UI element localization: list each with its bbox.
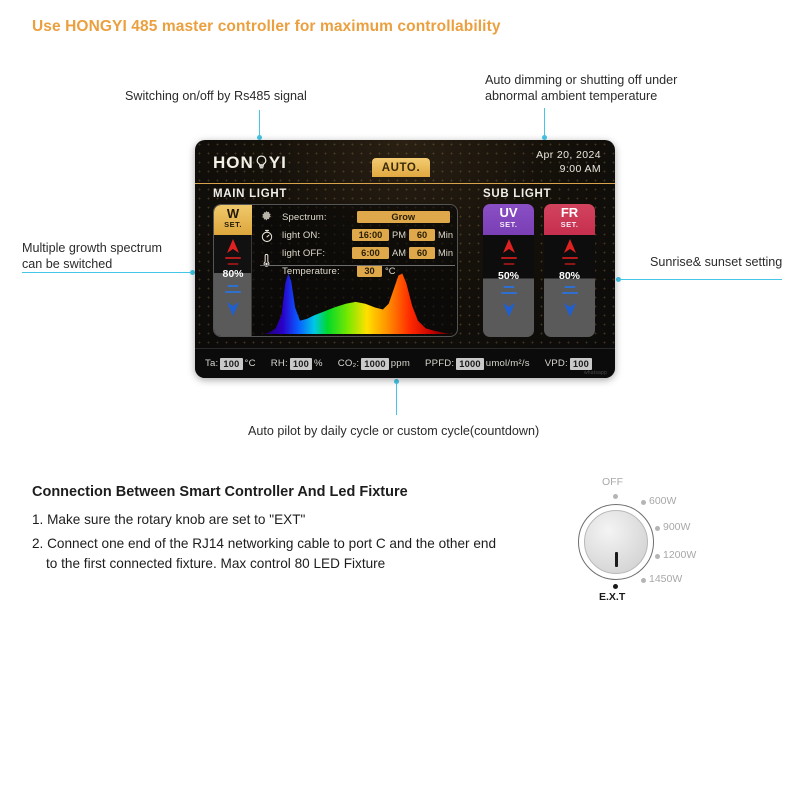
clock-display: Apr 20, 2024 9:00 AM — [536, 148, 601, 176]
knob-label-off: OFF — [602, 476, 623, 488]
light-off-ramp[interactable]: 60 — [409, 247, 435, 259]
knob-label-1200w: 1200W — [663, 549, 696, 561]
fr-channel-sub: SET. — [544, 220, 595, 229]
spectrum-value[interactable]: Grow — [357, 211, 450, 223]
uv-channel-slider[interactable]: UV SET. 50% — [483, 204, 534, 337]
light-on-ramp-unit: Min — [438, 230, 453, 240]
connection-step-2-line1: 2. Connect one end of the RJ14 networkin… — [32, 534, 572, 554]
gear-icon — [260, 210, 273, 228]
status-co2-label: CO₂: — [338, 358, 360, 369]
spectrum-chart — [260, 265, 455, 334]
fr-channel-percent: 80% — [544, 270, 595, 282]
connection-step-2-line2: to the first connected fixture. Max cont… — [32, 554, 572, 574]
connector-autopilot — [396, 381, 397, 415]
uv-decrease-arrow-icon[interactable] — [501, 302, 517, 323]
main-light-panel: W SET. 80% — [213, 204, 458, 337]
callout-temperature: Auto dimming or shutting off under abnor… — [485, 72, 677, 104]
connector-rs485 — [259, 110, 260, 138]
row-light-off[interactable]: light OFF: 6:00 AM 60 Min — [282, 245, 453, 261]
device-header: HON YI AUTO. Apr 20, 2024 9:00 AM — [195, 140, 615, 184]
rotary-knob-pointer — [615, 552, 618, 567]
increase-arrow-icon[interactable] — [225, 238, 241, 259]
fr-tick-red-1 — [562, 257, 578, 259]
uv-tick-red-2 — [503, 263, 514, 265]
light-off-meridiem: AM — [392, 248, 406, 258]
knob-dot-1200w — [655, 554, 660, 559]
connection-step-2: 2. Connect one end of the RJ14 networkin… — [32, 534, 572, 574]
status-rh-unit: % — [314, 358, 323, 369]
callout-sunrise-text: Sunrise& sunset setting — [650, 255, 782, 269]
white-channel-cap[interactable]: W SET. — [214, 205, 252, 235]
white-channel-sub: SET. — [214, 220, 252, 229]
row-light-on[interactable]: light ON: 16:00 PM 60 Min — [282, 227, 453, 243]
connector-dot-sunrise — [616, 277, 621, 282]
uv-channel-sub: SET. — [483, 220, 534, 229]
connector-dot-autopilot — [394, 379, 399, 384]
fr-channel-name: FR — [544, 206, 595, 220]
connection-step-1: 1. Make sure the rotary knob are set to … — [32, 510, 305, 530]
status-vpd: VPD: 100 — [545, 358, 594, 370]
light-off-label: light OFF: — [282, 248, 349, 259]
knob-label-ext: E.X.T — [599, 591, 625, 603]
main-light-title: MAIN LIGHT — [213, 188, 287, 200]
watermark: whatsapp — [584, 370, 607, 376]
uv-channel-percent: 50% — [483, 270, 534, 282]
tick-red-1 — [225, 257, 241, 259]
status-ppfd: PPFD: 1000 umol/m²/s — [425, 358, 530, 370]
callout-rs485-text: Switching on/off by Rs485 signal — [125, 89, 307, 103]
uv-increase-arrow-icon[interactable] — [501, 238, 517, 259]
rotary-knob-diagram: OFF 600W 900W 1200W 1450W E.X.T — [578, 478, 738, 603]
row-spectrum[interactable]: Spectrum: Grow — [282, 209, 453, 225]
timer-icon — [260, 229, 274, 248]
status-co2: CO₂: 1000 ppm — [338, 358, 410, 370]
brand-logo-right: YI — [269, 153, 287, 173]
callout-sunrise: Sunrise& sunset setting — [650, 254, 782, 270]
light-on-time[interactable]: 16:00 — [352, 229, 389, 241]
status-co2-value: 1000 — [361, 358, 388, 370]
fr-channel-cap[interactable]: FR SET. — [544, 204, 595, 235]
connection-section-title: Connection Between Smart Controller And … — [32, 484, 408, 500]
knob-label-900w: 900W — [663, 521, 690, 533]
white-channel-slider[interactable]: W SET. 80% — [214, 205, 252, 336]
sub-light-panel: UV SET. 50% FR SET. — [483, 204, 595, 337]
fr-tick-blue-2 — [562, 292, 578, 294]
callout-spectrum-line2: can be switched — [22, 256, 162, 272]
clock-date: Apr 20, 2024 — [536, 148, 601, 162]
rotary-knob[interactable] — [578, 504, 654, 580]
tick-blue-2 — [225, 291, 241, 293]
status-ta-label: Ta: — [205, 358, 218, 369]
header-divider — [195, 183, 615, 184]
connector-sunrise — [618, 279, 782, 280]
status-rh-label: RH: — [271, 358, 288, 369]
uv-tick-blue-2 — [501, 292, 517, 294]
fr-increase-arrow-icon[interactable] — [562, 238, 578, 259]
white-channel-percent: 80% — [214, 268, 252, 280]
status-rh-value: 100 — [290, 358, 312, 370]
uv-tick-red-1 — [501, 257, 517, 259]
spectrum-chart-svg — [260, 266, 455, 334]
connector-temperature — [544, 108, 545, 138]
callout-autopilot: Auto pilot by daily cycle or custom cycl… — [248, 423, 539, 439]
knob-label-600w: 600W — [649, 495, 676, 507]
sub-light-title: SUB LIGHT — [483, 188, 551, 200]
auto-mode-button[interactable]: AUTO. — [372, 158, 430, 177]
uv-channel-cap[interactable]: UV SET. — [483, 204, 534, 235]
knob-dot-1450w — [641, 578, 646, 583]
status-vpd-value: 100 — [570, 358, 592, 370]
status-ppfd-unit: umol/m²/s — [486, 358, 530, 369]
knob-dot-900w — [655, 526, 660, 531]
knob-dot-off — [613, 494, 618, 499]
knob-dot-ext — [613, 584, 618, 589]
uv-channel-name: UV — [483, 206, 534, 220]
status-vpd-label: VPD: — [545, 358, 568, 369]
uv-tick-blue-1 — [503, 286, 514, 288]
brand-logo: HON YI — [213, 153, 287, 173]
light-on-label: light ON: — [282, 230, 349, 241]
callout-temperature-line1: Auto dimming or shutting off under — [485, 72, 677, 88]
white-channel-name: W — [214, 207, 252, 220]
status-ppfd-value: 1000 — [456, 358, 483, 370]
light-on-meridiem: PM — [392, 230, 406, 240]
knob-dot-600w — [641, 500, 646, 505]
callout-spectrum: Multiple growth spectrum can be switched — [22, 240, 162, 272]
page-headline: Use HONGYI 485 master controller for max… — [32, 18, 501, 36]
clock-time: 9:00 AM — [536, 162, 601, 176]
fr-channel-slider[interactable]: FR SET. 80% — [544, 204, 595, 337]
brand-logo-left: HON — [213, 153, 254, 173]
status-ppfd-label: PPFD: — [425, 358, 454, 369]
tick-blue-1 — [227, 285, 238, 287]
status-ta-value: 100 — [220, 358, 242, 370]
page-root: Use HONGYI 485 master controller for max… — [0, 0, 800, 800]
controller-device: HON YI AUTO. Apr 20, 2024 9:00 AM MAIN L… — [195, 140, 615, 378]
spectrum-label: Spectrum: — [282, 212, 354, 223]
sensor-status-bar: Ta: 100 °C RH: 100 % CO₂: 1000 ppm PPFD:… — [195, 348, 615, 378]
fr-tick-red-2 — [564, 263, 575, 265]
fr-decrease-arrow-icon[interactable] — [562, 302, 578, 323]
light-on-ramp[interactable]: 60 — [409, 229, 435, 241]
status-ta-unit: °C — [245, 358, 256, 369]
decrease-arrow-icon[interactable] — [225, 301, 241, 322]
fr-tick-blue-1 — [564, 286, 575, 288]
callout-spectrum-line1: Multiple growth spectrum — [22, 240, 162, 256]
lightbulb-icon — [253, 154, 270, 171]
knob-label-1450w: 1450W — [649, 573, 682, 585]
status-co2-unit: ppm — [391, 358, 410, 369]
callout-temperature-line2: abnormal ambient temperature — [485, 88, 677, 104]
callout-autopilot-text: Auto pilot by daily cycle or custom cycl… — [248, 424, 539, 438]
connector-spectrum — [22, 272, 194, 273]
tick-red-2 — [227, 263, 238, 265]
light-off-time[interactable]: 6:00 — [352, 247, 389, 259]
status-ta: Ta: 100 °C — [205, 358, 256, 370]
callout-rs485: Switching on/off by Rs485 signal — [125, 88, 307, 104]
status-rh: RH: 100 % — [271, 358, 323, 370]
light-off-ramp-unit: Min — [438, 248, 453, 258]
